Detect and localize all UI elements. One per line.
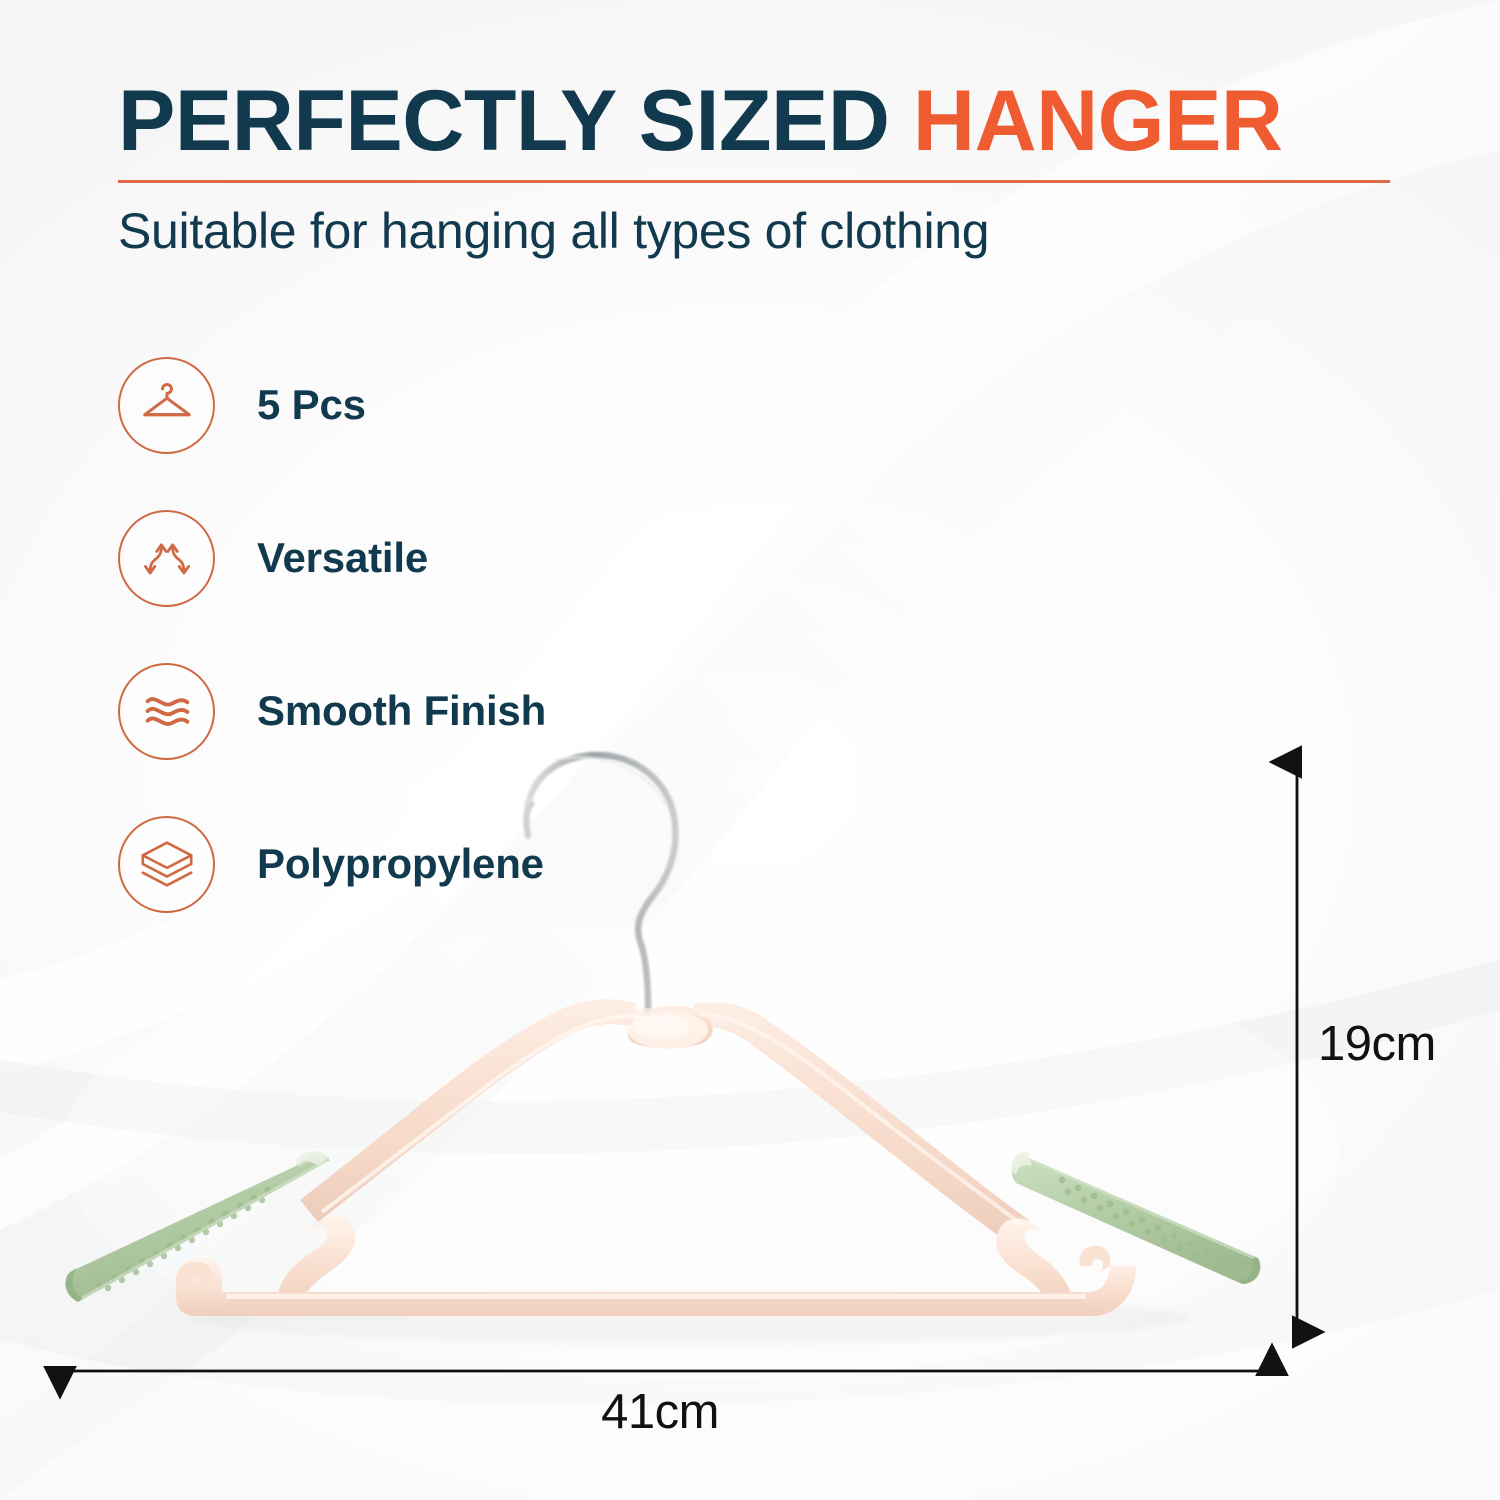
dimension-annotations [0,0,1500,1500]
dimension-label-width: 41cm [0,1384,1320,1440]
dimension-label-height: 19cm [1318,1016,1436,1072]
